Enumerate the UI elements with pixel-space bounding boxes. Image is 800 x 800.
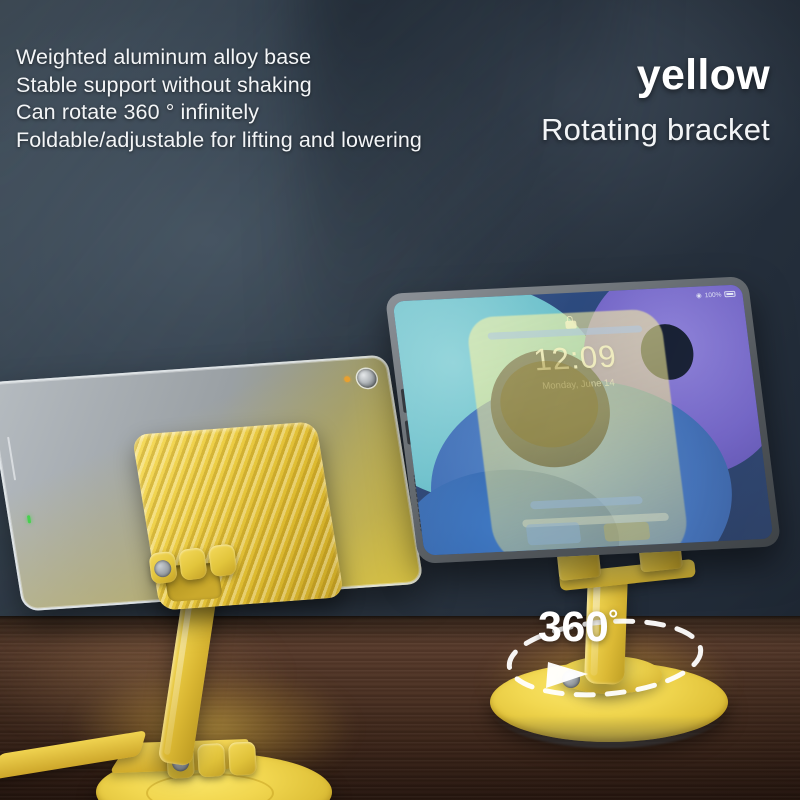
feature-item: Can rotate 360 ° infinitely bbox=[16, 99, 486, 127]
tablet-screen[interactable]: ◉ 100% 12:09 Monday, June 14 bbox=[393, 284, 774, 555]
hinge-knuckle bbox=[228, 741, 257, 775]
rotation-badge: 360° bbox=[490, 600, 720, 710]
title-block: yellow Rotating bracket bbox=[541, 50, 770, 150]
hinge-knuckle bbox=[148, 551, 178, 585]
status-indicator-icon bbox=[27, 515, 31, 523]
feature-item: Foldable/adjustable for lifting and lowe… bbox=[16, 127, 486, 155]
hinge-knuckle bbox=[197, 743, 226, 777]
feature-item: Weighted aluminum alloy base bbox=[16, 44, 486, 72]
feature-list: Weighted aluminum alloy base Stable supp… bbox=[16, 44, 486, 154]
feature-item: Stable support without shaking bbox=[16, 72, 486, 100]
hinge-knuckle bbox=[178, 547, 208, 581]
degree-symbol: ° bbox=[608, 605, 618, 633]
flash-icon bbox=[344, 376, 351, 382]
camera-icon bbox=[356, 368, 378, 388]
antenna-line bbox=[7, 437, 16, 481]
screen-glass-sheen bbox=[393, 284, 774, 555]
product-promo-image: ◉ 100% 12:09 Monday, June 14 bbox=[0, 0, 800, 800]
hinge-pin-icon bbox=[153, 559, 172, 578]
hinge-knuckle bbox=[208, 543, 238, 577]
product-category-subtitle: Rotating bracket bbox=[541, 110, 770, 150]
rotation-label: 360° bbox=[538, 604, 618, 650]
product-color-title: yellow bbox=[541, 50, 770, 100]
right-tablet-front: ◉ 100% 12:09 Monday, June 14 bbox=[385, 276, 782, 564]
rotation-value: 360 bbox=[538, 603, 608, 651]
